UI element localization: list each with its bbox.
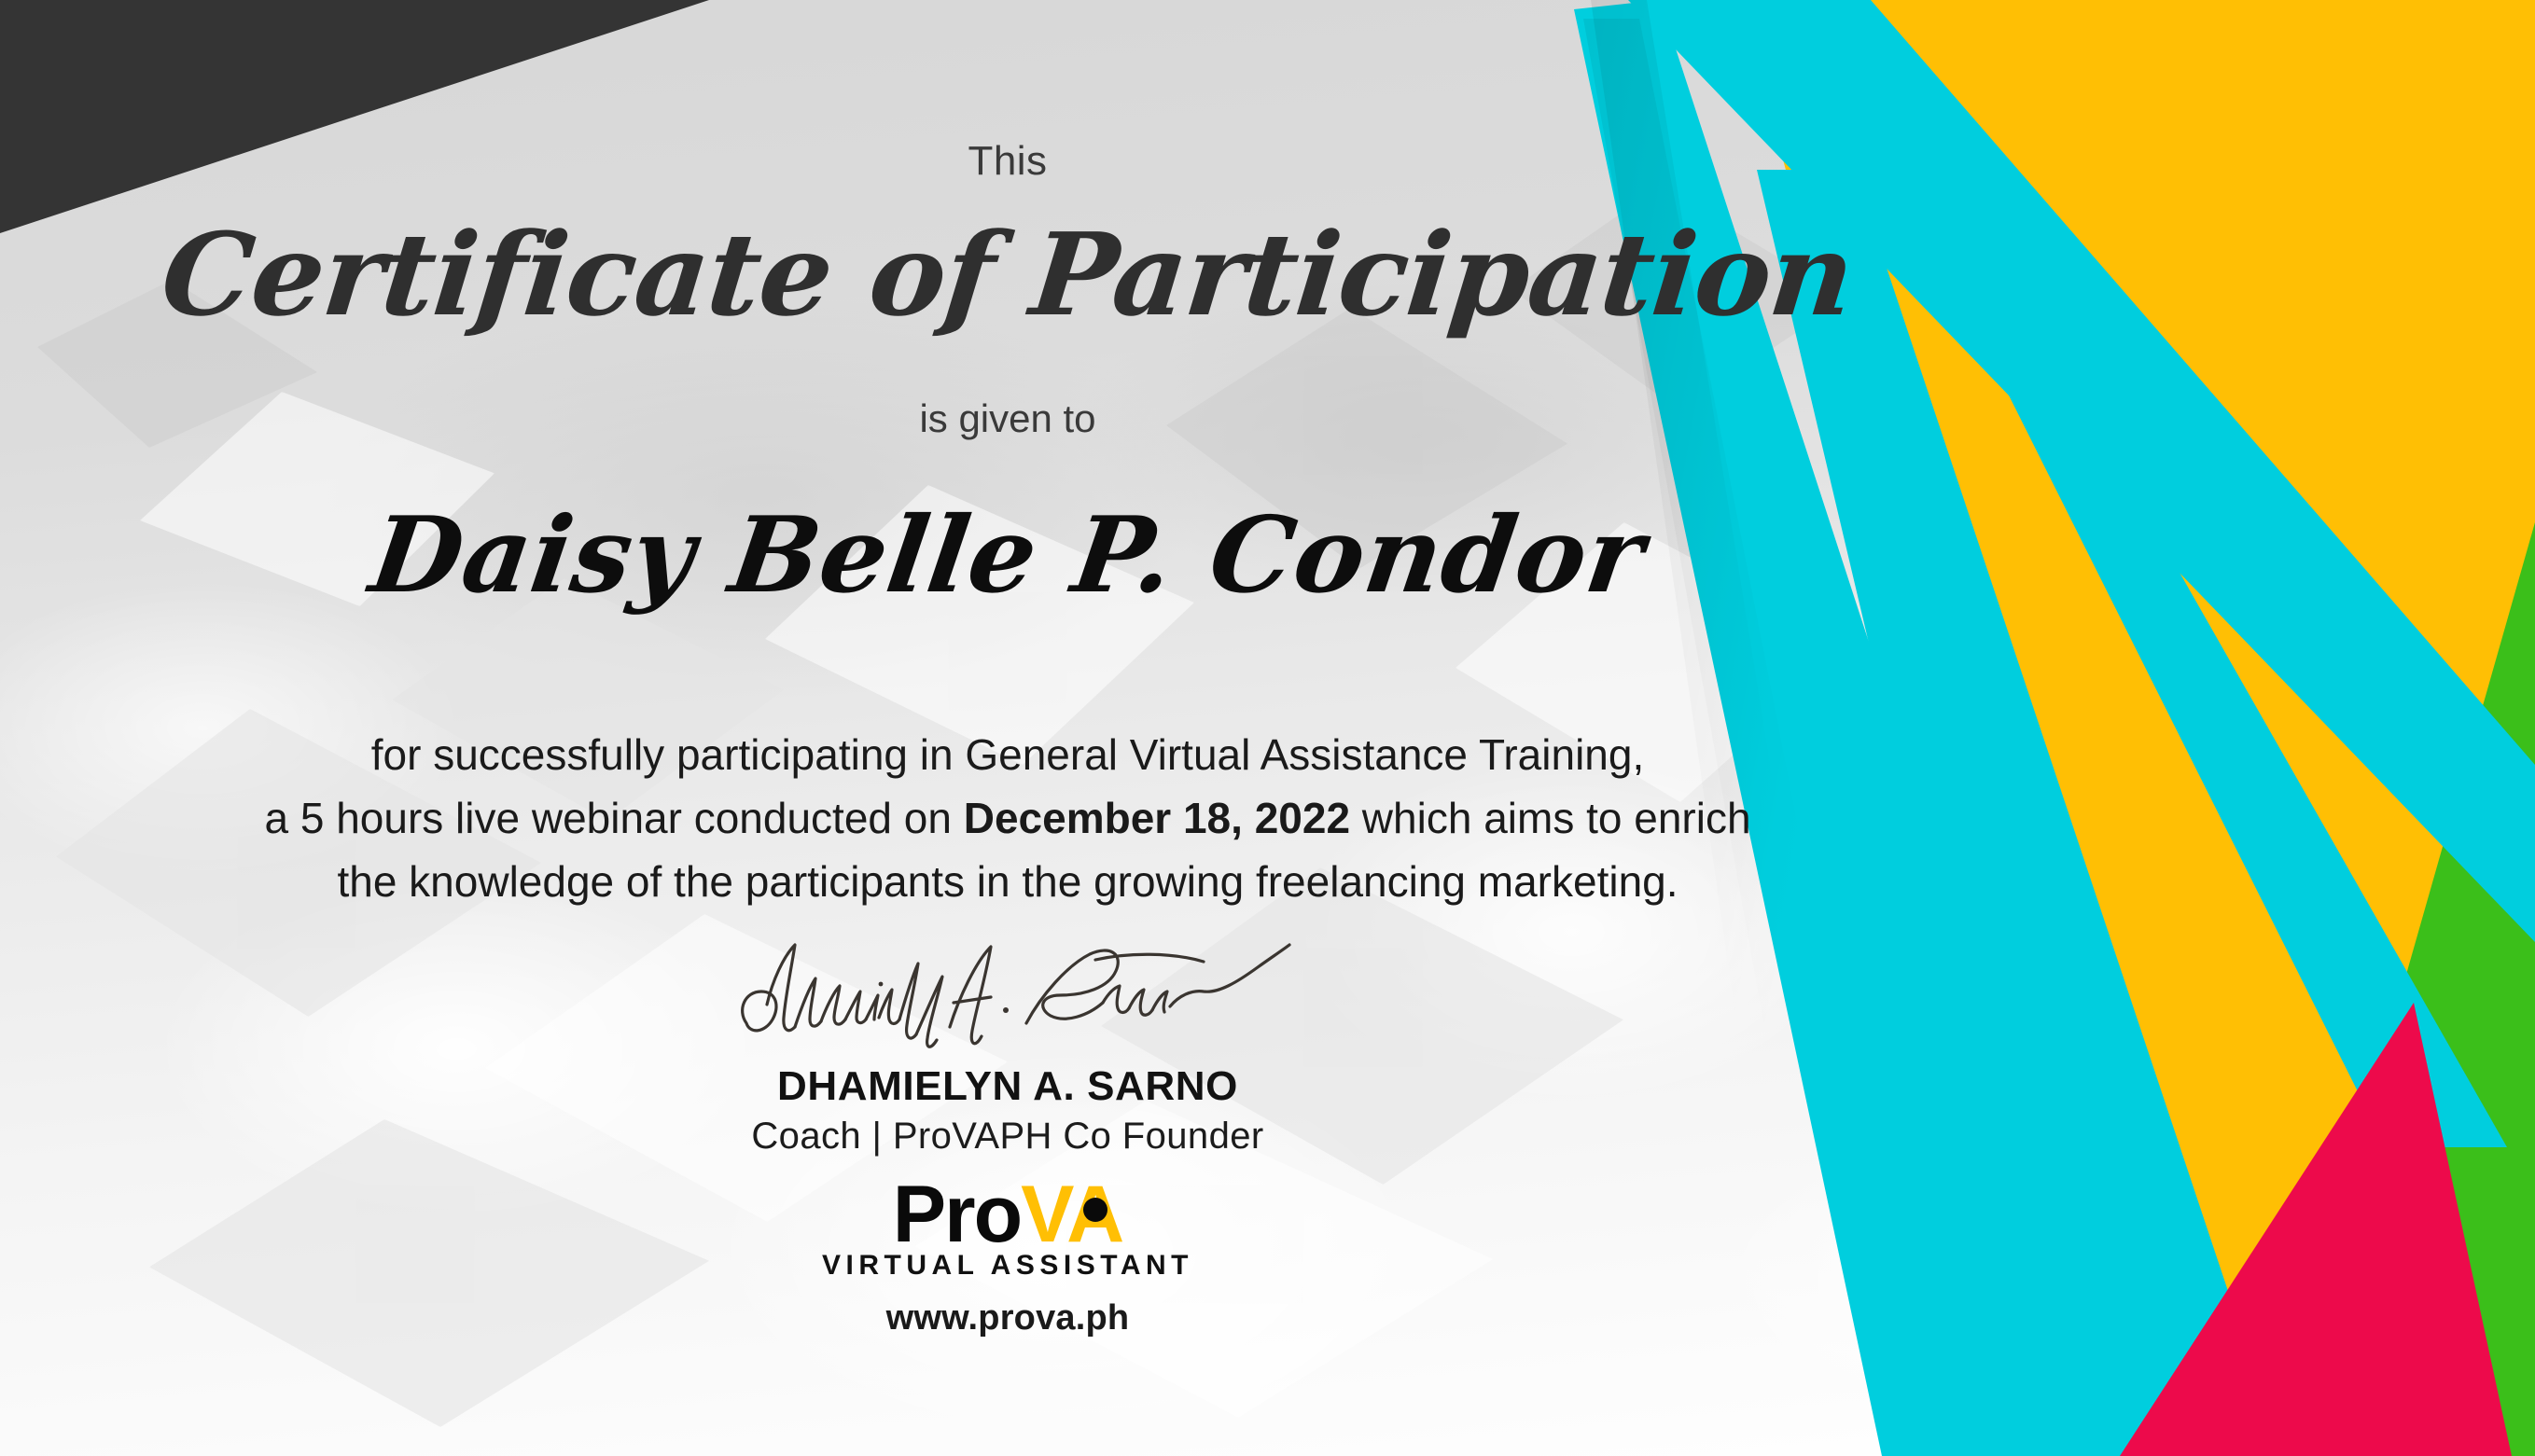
citation-paragraph: for successfully participating in Genera… (0, 723, 2015, 913)
handwritten-signature-icon (718, 937, 1297, 1049)
logo-va-text: VA (1021, 1170, 1122, 1259)
logo-wordmark: ProVA (893, 1173, 1122, 1255)
citation-line-2-prefix: a 5 hours live webinar conducted on (264, 794, 963, 842)
citation-line-3: the knowledge of the participants in the… (337, 857, 1678, 906)
recipient-name: Daisy Belle P. Condor (0, 494, 2024, 617)
signer-name: DHAMIELYN A. SARNO (0, 1063, 2015, 1110)
certificate-canvas: This Certificate of Participation is giv… (0, 0, 2535, 1456)
event-date: December 18, 2022 (964, 794, 1350, 842)
citation-line-2-suffix: which aims to enrich (1350, 794, 1751, 842)
certificate-title: Certificate of Participation (0, 207, 2023, 341)
logo-website: www.prova.ph (0, 1298, 2015, 1338)
logo-word-va: VA (1021, 1170, 1122, 1259)
prova-logo: ProVA VIRTUAL ASSISTANT www.prova.ph (0, 1173, 2015, 1338)
signature-block (0, 937, 2015, 1049)
citation-line-1: for successfully participating in Genera… (371, 730, 1644, 779)
signer-role: Coach | ProVAPH Co Founder (0, 1116, 2015, 1158)
intro-label: This (0, 138, 2015, 185)
logo-word-pro: Pro (893, 1170, 1021, 1259)
given-to-label: is given to (0, 396, 2015, 441)
